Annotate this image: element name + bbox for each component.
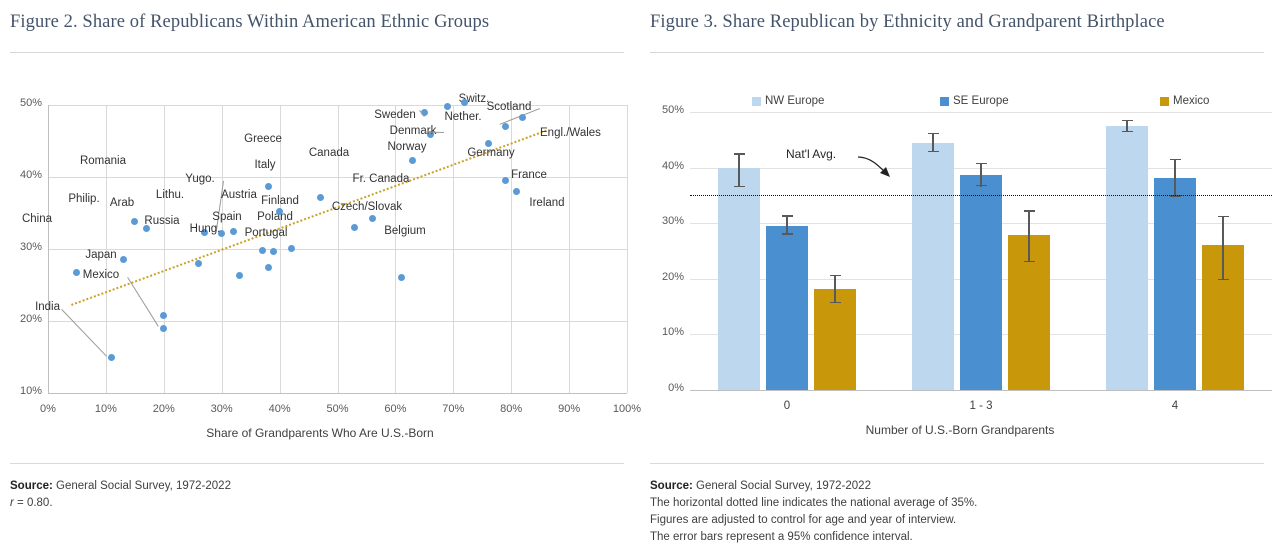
scatter-y-tick: 50% — [8, 97, 42, 109]
scatter-point — [444, 103, 451, 110]
bar-se-europe-1 — [960, 175, 1002, 390]
figure-3-source-text: General Social Survey, 1972-2022 — [693, 480, 871, 492]
figure-2-panel: Figure 2. Share of Republicans Within Am… — [0, 0, 640, 558]
scatter-gridline-v — [280, 105, 281, 393]
error-bar-cap-bottom — [1218, 279, 1229, 280]
scatter-point — [409, 157, 416, 164]
scatter-point-label: Sweden — [368, 109, 422, 121]
scatter-x-axis-title: Share of Grandparents Who Are U.S.-Born — [0, 426, 640, 440]
scatter-x-tick: 30% — [196, 403, 248, 415]
figure-3-source-label: Source: — [650, 480, 693, 492]
error-bar-cap-bottom — [1024, 261, 1035, 262]
bar-nw-europe-2 — [1106, 126, 1148, 390]
scatter-point-label: Czech/Slovak — [328, 201, 406, 213]
bar-y-tick: 10% — [648, 326, 684, 338]
scatter-point-label: Finland — [254, 195, 306, 207]
error-bar — [814, 275, 856, 303]
scatter-x-tick: 20% — [138, 403, 190, 415]
scatter-point-label: Canada — [302, 147, 356, 159]
scatter-point-label: Japan — [78, 249, 124, 261]
scatter-x-tick: 60% — [369, 403, 421, 415]
scatter-point — [236, 272, 243, 279]
error-bar — [718, 153, 760, 187]
error-bar — [960, 163, 1002, 187]
scatter-point-label: Ireland — [522, 197, 572, 209]
figure-3-title-rule — [650, 52, 1264, 53]
scatter-y-axis — [48, 105, 49, 393]
error-bar — [912, 133, 954, 152]
figure-3-source-note: Source: General Social Survey, 1972-2022 — [650, 478, 871, 495]
error-bar-cap-top — [782, 215, 793, 216]
bar-group-label: 1 - 3 — [931, 400, 1031, 412]
scatter-point-label: Italy — [248, 159, 282, 171]
figures-page: Figure 2. Share of Republicans Within Am… — [0, 0, 1280, 558]
bar-y-tick: 20% — [648, 271, 684, 283]
figure-3-note-line-3: Figures are adjusted to control for age … — [650, 512, 956, 529]
bar-group-label: 0 — [737, 400, 837, 412]
legend-label-1: NW Europe — [765, 95, 824, 107]
scatter-point-label: Germany — [462, 147, 520, 159]
error-bar-stem — [932, 133, 933, 152]
bar-mexico-0 — [814, 289, 856, 390]
legend-label-3: Mexico — [1173, 95, 1209, 107]
figure-2-source-label: Source: — [10, 480, 53, 492]
error-bar-cap-bottom — [830, 302, 841, 303]
scatter-point-label: Engl./Wales — [540, 127, 614, 139]
bar-se-europe-0 — [766, 226, 808, 390]
scatter-point — [265, 183, 272, 190]
scatter-point-label: Greece — [238, 133, 288, 145]
error-bar-stem — [1174, 159, 1175, 197]
error-bar-cap-top — [734, 153, 745, 154]
scatter-point — [108, 354, 115, 361]
scatter-x-tick: 50% — [312, 403, 364, 415]
scatter-x-tick: 40% — [254, 403, 306, 415]
legend-swatch-1 — [752, 97, 761, 106]
error-bar-cap-top — [830, 275, 841, 276]
national-average-line — [690, 195, 1272, 196]
error-bar-cap-top — [1170, 159, 1181, 160]
bar-gridline — [690, 112, 1272, 113]
error-bar-cap-bottom — [1122, 131, 1133, 132]
scatter-point-label: Arab — [104, 197, 140, 209]
scatter-y-tick: 40% — [8, 169, 42, 181]
scatter-point — [513, 188, 520, 195]
scatter-gridline-v — [569, 105, 570, 393]
figure-3-note-line-4: The error bars represent a 95% confidenc… — [650, 529, 913, 546]
scatter-point — [265, 264, 272, 271]
figure-2-notes-rule — [10, 463, 624, 464]
scatter-point-label: Lithu. — [148, 189, 192, 201]
scatter-point-label: Spain — [206, 211, 248, 223]
error-bar-cap-top — [1122, 120, 1133, 121]
error-bar-cap-bottom — [782, 233, 793, 234]
error-bar-stem — [1222, 216, 1223, 280]
error-bar-cap-top — [928, 133, 939, 134]
error-bar — [766, 215, 808, 234]
bar-y-tick: 0% — [648, 382, 684, 394]
scatter-label-leader — [61, 309, 106, 356]
scatter-point-label: Hung. — [182, 223, 228, 235]
scatter-y-tick: 20% — [8, 313, 42, 325]
figure-2-source-text: General Social Survey, 1972-2022 — [53, 480, 231, 492]
scatter-x-tick: 80% — [485, 403, 537, 415]
error-bar-cap-bottom — [976, 185, 987, 186]
figure-2-r-value: = 0.80. — [14, 497, 53, 509]
scatter-x-tick: 10% — [80, 403, 132, 415]
scatter-point-label: Yugo. — [178, 173, 222, 185]
scatter-point-label: India — [22, 301, 60, 313]
scatter-point — [270, 248, 277, 255]
scatter-point — [160, 312, 167, 319]
national-average-label: Nat'l Avg. — [786, 147, 836, 161]
error-bar-stem — [834, 275, 835, 303]
error-bar-stem — [980, 163, 981, 187]
scatter-x-tick: 0% — [22, 403, 74, 415]
figure-2-correlation-note: r = 0.80. — [10, 495, 53, 512]
error-bar — [1008, 210, 1050, 262]
legend-label-2: SE Europe — [953, 95, 1009, 107]
scatter-point — [259, 247, 266, 254]
scatter-point — [160, 325, 167, 332]
bar-nw-europe-0 — [718, 168, 760, 390]
figure-3-notes-rule — [650, 463, 1264, 464]
scatter-y-tick: 30% — [8, 241, 42, 253]
scatter-point-label: Russia — [138, 215, 186, 227]
figure-3-title: Figure 3. Share Republican by Ethnicity … — [650, 12, 1165, 33]
error-bar — [1106, 120, 1148, 132]
scatter-point-label: Romania — [74, 155, 132, 167]
scatter-y-tick: 10% — [8, 385, 42, 397]
scatter-point-label: France — [504, 169, 554, 181]
scatter-point-label: Poland — [250, 211, 300, 223]
error-bar-stem — [1028, 210, 1029, 262]
scatter-point-label: China — [12, 213, 52, 225]
scatter-gridline-v — [627, 105, 628, 393]
scatter-point — [398, 274, 405, 281]
error-bar-cap-bottom — [928, 151, 939, 152]
scatter-point — [519, 114, 526, 121]
bar-x-axis-title: Number of U.S.-Born Grandparents — [640, 423, 1280, 437]
error-bar-stem — [786, 215, 787, 234]
national-average-arrow-icon — [856, 151, 902, 185]
scatter-point-label: Portugal — [238, 227, 294, 239]
error-bar-cap-bottom — [734, 186, 745, 187]
scatter-point — [317, 194, 324, 201]
scatter-x-tick: 90% — [543, 403, 595, 415]
scatter-point — [230, 228, 237, 235]
error-bar-stem — [738, 153, 739, 187]
scatter-point-label: Philip. — [60, 193, 108, 205]
figure-3-panel: Figure 3. Share Republican by Ethnicity … — [640, 0, 1280, 558]
scatter-point-label: Fr. Canada — [348, 173, 414, 185]
scatter-x-tick: 70% — [427, 403, 479, 415]
scatter-point — [502, 123, 509, 130]
scatter-point-label: Belgium — [378, 225, 432, 237]
figure-2-source-note: Source: General Social Survey, 1972-2022 — [10, 478, 231, 495]
error-bar — [1154, 159, 1196, 197]
bar-nw-europe-1 — [912, 143, 954, 390]
error-bar — [1202, 216, 1244, 280]
figure-3-note-line-2: The horizontal dotted line indicates the… — [650, 495, 977, 512]
bar-y-tick: 50% — [648, 104, 684, 116]
bar-gridline — [690, 390, 1272, 391]
scatter-gridline-v — [453, 105, 454, 393]
scatter-point — [369, 215, 376, 222]
bar-group-label: 4 — [1125, 400, 1225, 412]
error-bar-cap-top — [976, 163, 987, 164]
scatter-label-leader — [127, 277, 159, 327]
bar-y-tick: 30% — [648, 215, 684, 227]
scatter-point — [351, 224, 358, 231]
figure-2-title: Figure 2. Share of Republicans Within Am… — [10, 12, 489, 33]
figure-2-title-rule — [10, 52, 624, 53]
legend-swatch-3 — [1160, 97, 1169, 106]
bar-y-tick: 40% — [648, 160, 684, 172]
scatter-point — [195, 260, 202, 267]
scatter-gridline-v — [164, 105, 165, 393]
error-bar-cap-top — [1218, 216, 1229, 217]
error-bar-cap-top — [1024, 210, 1035, 211]
scatter-point-label: Mexico — [76, 269, 126, 281]
scatter-x-axis — [48, 393, 627, 394]
scatter-point — [288, 245, 295, 252]
bar-se-europe-2 — [1154, 178, 1196, 390]
scatter-point-label: Norway — [380, 141, 434, 153]
legend-swatch-2 — [940, 97, 949, 106]
